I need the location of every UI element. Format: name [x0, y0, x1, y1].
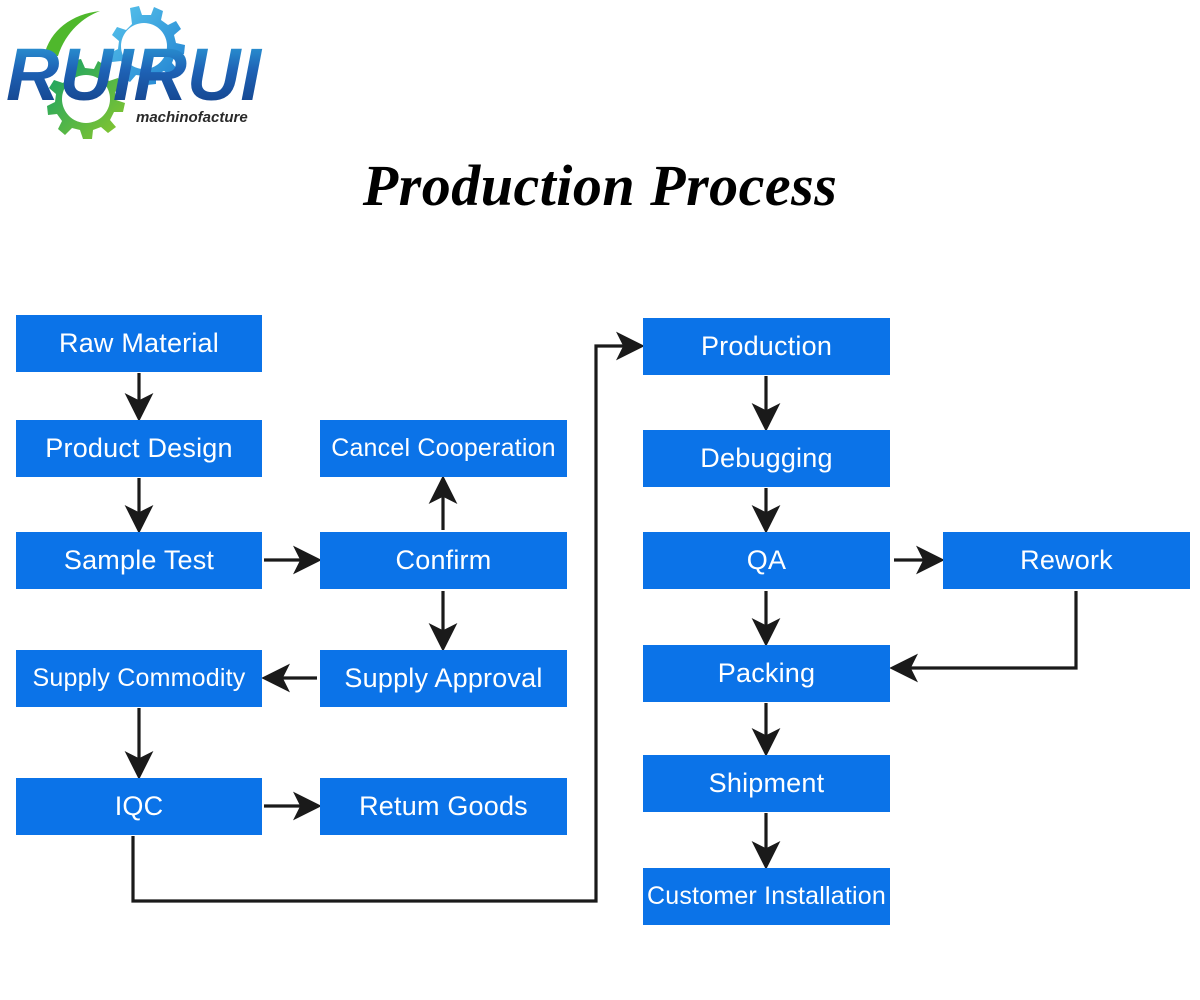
- node-confirm[interactable]: Confirm: [320, 532, 567, 589]
- node-production[interactable]: Production: [643, 318, 890, 375]
- node-iqc[interactable]: IQC: [16, 778, 262, 835]
- node-qa[interactable]: QA: [643, 532, 890, 589]
- node-raw-material[interactable]: Raw Material: [16, 315, 262, 372]
- node-supply-commodity[interactable]: Supply Commodity: [16, 650, 262, 707]
- node-shipment[interactable]: Shipment: [643, 755, 890, 812]
- edge-rework-to-packing-loop: [894, 591, 1076, 668]
- node-cancel-cooperation[interactable]: Cancel Cooperation: [320, 420, 567, 477]
- node-packing[interactable]: Packing: [643, 645, 890, 702]
- node-customer-installation[interactable]: Customer Installation: [643, 868, 890, 925]
- node-supply-approval[interactable]: Supply Approval: [320, 650, 567, 707]
- production-process-flowchart: Raw Material Product Design Sample Test …: [0, 0, 1200, 1000]
- node-sample-test[interactable]: Sample Test: [16, 532, 262, 589]
- node-rework[interactable]: Rework: [943, 532, 1190, 589]
- node-debugging[interactable]: Debugging: [643, 430, 890, 487]
- node-retum-goods[interactable]: Retum Goods: [320, 778, 567, 835]
- flowchart-connectors: [0, 0, 1200, 1000]
- node-product-design[interactable]: Product Design: [16, 420, 262, 477]
